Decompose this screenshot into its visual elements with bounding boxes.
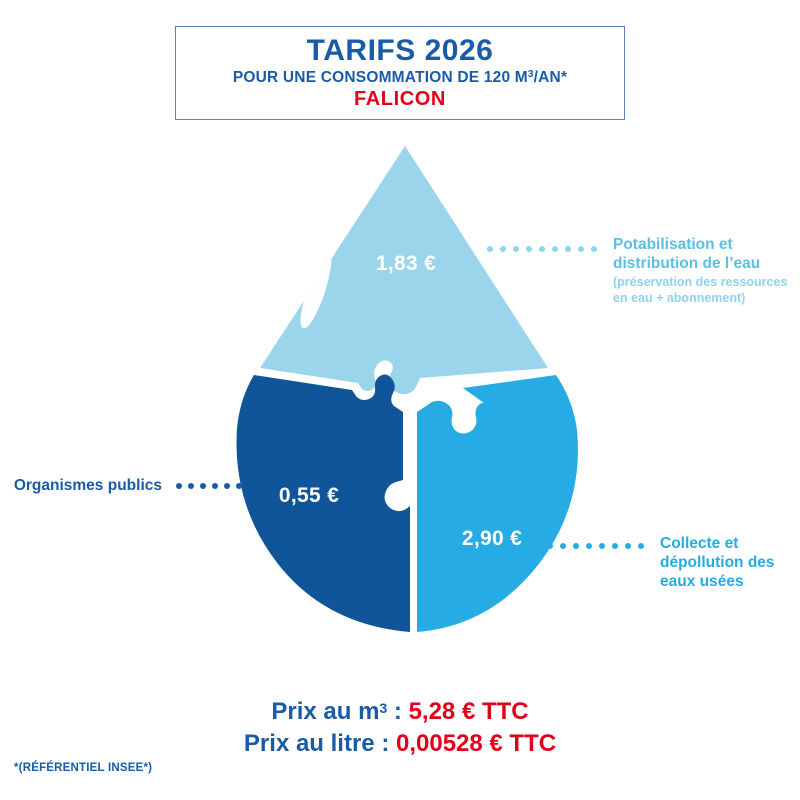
dot — [625, 543, 631, 549]
legend-organismes[interactable]: Organismes publics — [8, 477, 248, 496]
droplet-puzzle-chart: 1,83 € 0,55 € 2,90 € — [230, 140, 590, 645]
dot — [212, 483, 218, 489]
dot — [591, 246, 597, 252]
dot — [487, 246, 493, 252]
price-litre-label: Prix au litre : — [244, 730, 396, 757]
dot — [188, 483, 194, 489]
legend-organismes-text: Organismes publics — [14, 477, 162, 496]
price-m3-amount: 5,28 € TTC — [409, 698, 529, 725]
dot — [586, 543, 592, 549]
legend-collecte-text: Collecte et dépollution des eaux usées — [660, 535, 775, 592]
piece-organismes-value: 0,55 € — [279, 484, 339, 507]
dot — [236, 483, 242, 489]
piece-organismes[interactable]: 0,55 € — [237, 375, 410, 632]
dot — [526, 246, 532, 252]
footnote: *(RÉFÉRENTIEL INSEE*) — [14, 762, 152, 774]
page-subtitle: POUR UNE CONSOMMATION DE 120 M3/AN* — [233, 69, 567, 86]
legend-sub-line-2: en eau + abonnement) — [613, 291, 787, 306]
connector-dots-collecte — [547, 543, 651, 549]
dot — [599, 543, 605, 549]
dot — [500, 246, 506, 252]
price-per-litre: Prix au litre : 0,00528 € TTC — [0, 728, 800, 760]
legend-sub-line-1: (préservation des ressources — [613, 275, 787, 290]
connector-dots-potabilisation — [487, 246, 604, 252]
subtitle-suffix: /AN* — [534, 69, 568, 86]
price-m3-separator: : — [387, 698, 408, 725]
legend-line-2: distribution de l’eau — [613, 255, 760, 272]
dot — [552, 246, 558, 252]
price-summary: Prix au m3 : 5,28 € TTC Prix au litre : … — [0, 696, 800, 760]
legend-potabilisation-text: Potabilisation et distribution de l’eau … — [613, 236, 787, 306]
piece-potabilisation-value: 1,83 € — [376, 252, 436, 275]
dot — [612, 543, 618, 549]
legend-line-2: dépollution des — [660, 554, 775, 571]
title-box: TARIFS 2026 POUR UNE CONSOMMATION DE 120… — [175, 26, 625, 120]
piece-collecte-value: 2,90 € — [462, 527, 522, 550]
city-name: FALICON — [354, 89, 446, 110]
price-m3-label: Prix au m — [271, 698, 379, 725]
legend-line-3: eaux usées — [660, 573, 744, 590]
legend-line-1: Collecte et — [660, 535, 738, 552]
dot — [513, 246, 519, 252]
subtitle-prefix: POUR UNE CONSOMMATION DE 120 M — [233, 69, 528, 86]
dot — [573, 543, 579, 549]
connector-dots-organismes — [176, 483, 248, 489]
legend-collecte[interactable]: Collecte et dépollution des eaux usées — [547, 535, 775, 592]
legend-potabilisation[interactable]: Potabilisation et distribution de l’eau … — [487, 236, 787, 306]
dot — [638, 543, 644, 549]
legend-line-1: Potabilisation et — [613, 236, 733, 253]
price-per-m3: Prix au m3 : 5,28 € TTC — [0, 696, 800, 728]
piece-collecte-shape — [417, 375, 578, 632]
dot — [547, 543, 553, 549]
dot — [200, 483, 206, 489]
dot — [176, 483, 182, 489]
piece-collecte[interactable]: 2,90 € — [417, 375, 578, 632]
page-title: TARIFS 2026 — [307, 36, 494, 67]
dot — [539, 246, 545, 252]
dot — [578, 246, 584, 252]
dot — [224, 483, 230, 489]
dot — [565, 246, 571, 252]
dot — [560, 543, 566, 549]
price-litre-amount: 0,00528 € TTC — [396, 730, 556, 757]
